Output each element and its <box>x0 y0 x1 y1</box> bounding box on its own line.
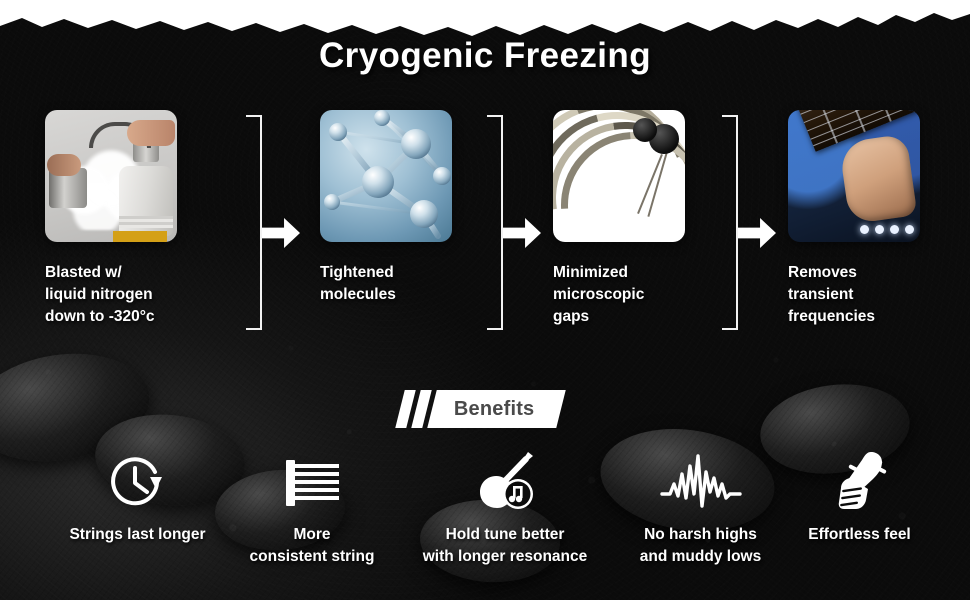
dewar-tank <box>119 166 173 236</box>
banner-plate: Benefits <box>427 390 565 428</box>
left-hand <box>47 154 81 176</box>
guitar-strings-nut-icon <box>232 448 392 510</box>
process-flow: Blasted w/ liquid nitrogen down to -320°… <box>0 110 970 340</box>
right-hand <box>127 120 175 146</box>
molecule-diagram <box>320 110 452 242</box>
benefit-label: Hold tune better with longer resonance <box>400 524 610 568</box>
cryogenic-freezing-infographic: Cryogenic Freezing Blasted w/ liquid nit… <box>0 0 970 600</box>
tuning-peg <box>633 118 657 142</box>
stage-lights <box>860 225 914 234</box>
right-arrow-icon <box>262 218 300 248</box>
benefit-item: Strings last longer <box>35 448 240 546</box>
benefits-list: Strings last longer More consistent stri… <box>0 448 970 588</box>
guitar-music-note-icon <box>400 448 610 510</box>
process-step-2: Tightened molecules <box>320 110 515 306</box>
stage-light <box>875 225 884 234</box>
audio-waveform-icon <box>618 448 783 510</box>
nitrogen-label <box>113 231 167 242</box>
benefit-label: More consistent string <box>232 524 392 568</box>
fretting-hand <box>839 134 918 225</box>
page-title: Cryogenic Freezing <box>0 36 970 76</box>
benefit-item: Hold tune better with longer resonance <box>400 448 610 568</box>
process-step-1-label: Blasted w/ liquid nitrogen down to -320°… <box>45 262 240 328</box>
process-step-4-label: Removes transient frequencies <box>788 262 958 328</box>
string-coils <box>553 110 685 242</box>
clock-refresh-icon <box>35 448 240 510</box>
guitarist-hand-fretboard-photo <box>788 110 920 242</box>
stage-light <box>890 225 899 234</box>
process-step-2-label: Tightened molecules <box>320 262 515 306</box>
process-step-4: Removes transient frequencies <box>788 110 958 328</box>
benefit-label: Strings last longer <box>35 524 240 546</box>
benefits-banner-label: Benefits <box>454 398 535 421</box>
hand-on-guitar-neck-icon <box>782 448 937 510</box>
stage-light <box>860 225 869 234</box>
benefit-label: No harsh highs and muddy lows <box>618 524 783 568</box>
benefits-banner: Benefits <box>400 390 561 428</box>
liquid-nitrogen-dewar-photo <box>45 110 177 242</box>
benefit-item: No harsh highs and muddy lows <box>618 448 783 568</box>
bracket-icon <box>246 115 262 330</box>
bracket-icon <box>487 115 503 330</box>
benefit-item: Effortless feel <box>782 448 937 546</box>
benefit-label: Effortless feel <box>782 524 937 546</box>
bracket-icon <box>722 115 738 330</box>
coiled-guitar-strings-photo <box>553 110 685 242</box>
stage-light <box>905 225 914 234</box>
benefit-item: More consistent string <box>232 448 392 568</box>
molecule-lattice-photo <box>320 110 452 242</box>
process-step-1: Blasted w/ liquid nitrogen down to -320°… <box>45 110 240 328</box>
